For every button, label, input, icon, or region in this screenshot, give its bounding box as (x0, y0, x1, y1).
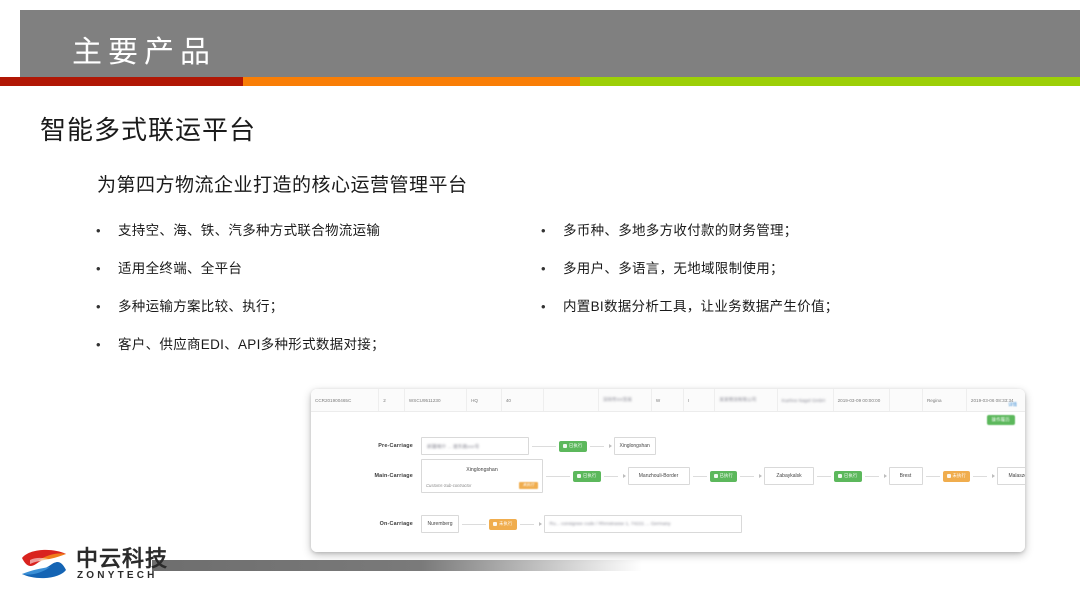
cell-consignor-text: 某某物流有限公司 (719, 397, 756, 403)
accent-bar-orange (243, 77, 580, 86)
pre-carriage-origin-text: 新疆喀什 ... 速东路xxx号 (427, 443, 479, 450)
list-item: • 多用户、多语言，无地域限制使用； (541, 260, 971, 298)
carriage-node-text: Manzhouli-Border (639, 473, 678, 479)
arrow-icon (884, 474, 887, 478)
cell-order-no: CCR201900465C (311, 389, 379, 411)
clock-icon (493, 522, 497, 526)
bullet-dot-icon: • (96, 336, 118, 354)
carriage-node[interactable]: Manzhouli-Border (628, 467, 690, 485)
on-carriage-destination-node[interactable]: Ru... consignee code / Rhmstrasse 1, 742… (544, 515, 742, 533)
check-icon (577, 474, 581, 478)
status-badge[interactable]: 已执行 (559, 441, 587, 452)
clock-icon (947, 474, 951, 478)
header-band: 主要产品 (20, 10, 1080, 77)
bullet-text: 多种运输方案比较、执行； (118, 298, 284, 316)
cell-i: I (684, 389, 716, 411)
bullet-text: 多用户、多语言，无地域限制使用； (563, 260, 784, 278)
connector-line (604, 476, 618, 477)
status-badge-label: 已执行 (844, 473, 858, 479)
section-heading: 智能多式联运平台 (40, 110, 256, 147)
cell-etd: 2019-03-09 00:00:00 (834, 389, 890, 411)
pre-carriage-destination-text: Xinglongshan (620, 443, 650, 449)
carriage-node[interactable]: Brest (889, 467, 923, 485)
connector-line (926, 476, 940, 477)
bullet-dot-icon: • (96, 260, 118, 278)
subcontractor-status-badge[interactable]: 未执行 (519, 482, 538, 489)
main-carriage-row: Main-Carriage Xinglongshan Customs-Sub-c… (341, 463, 1025, 489)
check-icon (838, 474, 842, 478)
bullet-text: 内置BI数据分析工具，让业务数据产生价值； (563, 298, 839, 316)
accent-bar-green (580, 77, 1080, 86)
bullet-text: 客户、供应商EDI、API多种形式数据对接； (118, 336, 385, 354)
carriage-node[interactable]: Malaszewicze (997, 467, 1025, 485)
cell-shipper: 深圳市XX贸易 (599, 389, 652, 411)
main-carriage-label: Main-Carriage (341, 473, 421, 479)
connector-line (973, 476, 987, 477)
connector-line (817, 476, 831, 477)
status-badge-label: 已执行 (583, 473, 597, 479)
page-title: 主要产品 (72, 33, 216, 73)
section-subheading: 为第四方物流企业打造的核心运营管理平台 (97, 170, 468, 197)
arrow-icon (539, 522, 542, 526)
bullet-dot-icon: • (541, 260, 563, 278)
detail-link[interactable]: 详情 (1008, 402, 1017, 408)
on-carriage-row: On-Carriage Nuremberg 未执行 Ru... consigne… (341, 511, 742, 537)
cell-consignor: 某某物流有限公司 (715, 389, 777, 411)
cell-size: 40 (502, 389, 544, 411)
status-badge-label: 已执行 (720, 473, 734, 479)
main-carriage-origin-text: Xinglongshan (422, 460, 542, 479)
on-carriage-origin-node[interactable]: Nuremberg (421, 515, 459, 533)
footer-gradient-bar (152, 560, 642, 571)
main-carriage-origin-node[interactable]: Xinglongshan Customs-Sub-contractor 未执行 (421, 459, 543, 493)
list-item: • 内置BI数据分析工具，让业务数据产生价值； (541, 298, 971, 336)
bullet-text: 适用全终端、全平台 (118, 260, 242, 278)
accent-bar-red (0, 77, 243, 86)
company-logo: 中云科技 ZONYTECH (16, 542, 191, 586)
cell-gap (890, 389, 923, 411)
carriage-node-text: Zabaykalsk (776, 473, 801, 479)
connector-line (546, 476, 570, 477)
status-badge[interactable]: 已执行 (834, 471, 862, 482)
connector-line (532, 446, 556, 447)
on-carriage-destination-text: Ru... consignee code / Rhmstrasse 1, 742… (550, 522, 671, 527)
bullet-list-left: • 支持空、海、铁、汽多种方式联合物流运输 • 适用全终端、全平台 • 多种运输… (96, 222, 526, 374)
on-carriage-origin-text: Nuremberg (427, 521, 452, 527)
bullet-list-right: • 多币种、多地多方收付款的财务管理； • 多用户、多语言，无地域限制使用； •… (541, 222, 971, 336)
slide-root: 主要产品 智能多式联运平台 为第四方物流企业打造的核心运营管理平台 • 支持空、… (0, 0, 1080, 608)
bullet-dot-icon: • (541, 222, 563, 240)
status-badge[interactable]: 已执行 (573, 471, 601, 482)
connector-line (520, 524, 534, 525)
connector-line (590, 446, 604, 447)
arrow-icon (992, 474, 995, 478)
list-item: • 适用全终端、全平台 (96, 260, 526, 298)
connector-line (865, 476, 879, 477)
status-badge-label: 未执行 (499, 521, 513, 527)
connector-line (740, 476, 754, 477)
logo-chinese-name: 中云科技 (76, 547, 168, 571)
cell-shipper-text: 深圳市XX贸易 (603, 397, 632, 403)
subcontractor-label: Customs-Sub-contractor (426, 483, 471, 488)
on-carriage-label: On-Carriage (341, 521, 421, 527)
check-icon (714, 474, 718, 478)
logo-english-name: ZONYTECH (77, 570, 158, 581)
list-item: • 多种运输方案比较、执行； (96, 298, 526, 336)
arrow-icon (609, 444, 612, 448)
cell-w: W (652, 389, 684, 411)
bullet-text: 多币种、多地多方收付款的财务管理； (563, 222, 798, 240)
status-badge[interactable]: 未执行 (489, 519, 517, 530)
pre-carriage-destination-node[interactable]: Xinglongshan (614, 437, 656, 455)
carriage-node-text: Brest (900, 473, 912, 479)
connector-line (462, 524, 486, 525)
list-item: • 支持空、海、铁、汽多种方式联合物流运输 (96, 222, 526, 260)
pre-carriage-row: Pre-Carriage 新疆喀什 ... 速东路xxx号 已执行 Xinglo… (341, 433, 656, 459)
cell-container-no: WSCU9511230 (405, 389, 467, 411)
list-item: • 客户、供应商EDI、API多种形式数据对接； (96, 336, 526, 374)
app-screenshot-inset: CCR201900465C 2 WSCU9511230 HQ 40 深圳市XX贸… (311, 389, 1025, 552)
bullet-dot-icon: • (541, 298, 563, 316)
bullet-text: 支持空、海、铁、汽多种方式联合物流运输 (118, 222, 380, 240)
table-row: CCR201900465C 2 WSCU9511230 HQ 40 深圳市XX贸… (311, 389, 1025, 412)
pre-carriage-label: Pre-Carriage (341, 443, 421, 449)
bullet-dot-icon: • (96, 222, 118, 240)
pre-carriage-origin-node[interactable]: 新疆喀什 ... 速东路xxx号 (421, 437, 529, 455)
list-item: • 多币种、多地多方收付款的财务管理； (541, 222, 971, 260)
cell-empty (544, 389, 599, 411)
arrow-icon (759, 474, 762, 478)
cell-type: HQ (467, 389, 502, 411)
logo-swoosh-icon (16, 546, 72, 582)
carriage-node-text: Malaszewicze (1008, 473, 1025, 479)
carriage-node[interactable]: Zabaykalsk (764, 467, 814, 485)
operation-history-button[interactable]: 操作履历 (987, 415, 1015, 425)
status-badge[interactable]: 已执行 (710, 471, 738, 482)
status-badge[interactable]: 未执行 (943, 471, 971, 482)
cell-operator: Regina (923, 389, 967, 411)
cell-consignee-text: Kuehne Nagel GmbH (782, 398, 826, 403)
cell-consignee: Kuehne Nagel GmbH (778, 389, 834, 411)
main-carriage-subcontractor: Customs-Sub-contractor 未执行 (422, 479, 542, 492)
app-screenshot-body: CCR201900465C 2 WSCU9511230 HQ 40 深圳市XX贸… (311, 389, 1025, 552)
status-badge-label: 已执行 (569, 443, 583, 449)
cell-qty: 2 (379, 389, 405, 411)
bullet-dot-icon: • (96, 298, 118, 316)
status-badge-label: 未执行 (953, 473, 967, 479)
connector-line (693, 476, 707, 477)
check-icon (563, 444, 567, 448)
arrow-icon (623, 474, 626, 478)
